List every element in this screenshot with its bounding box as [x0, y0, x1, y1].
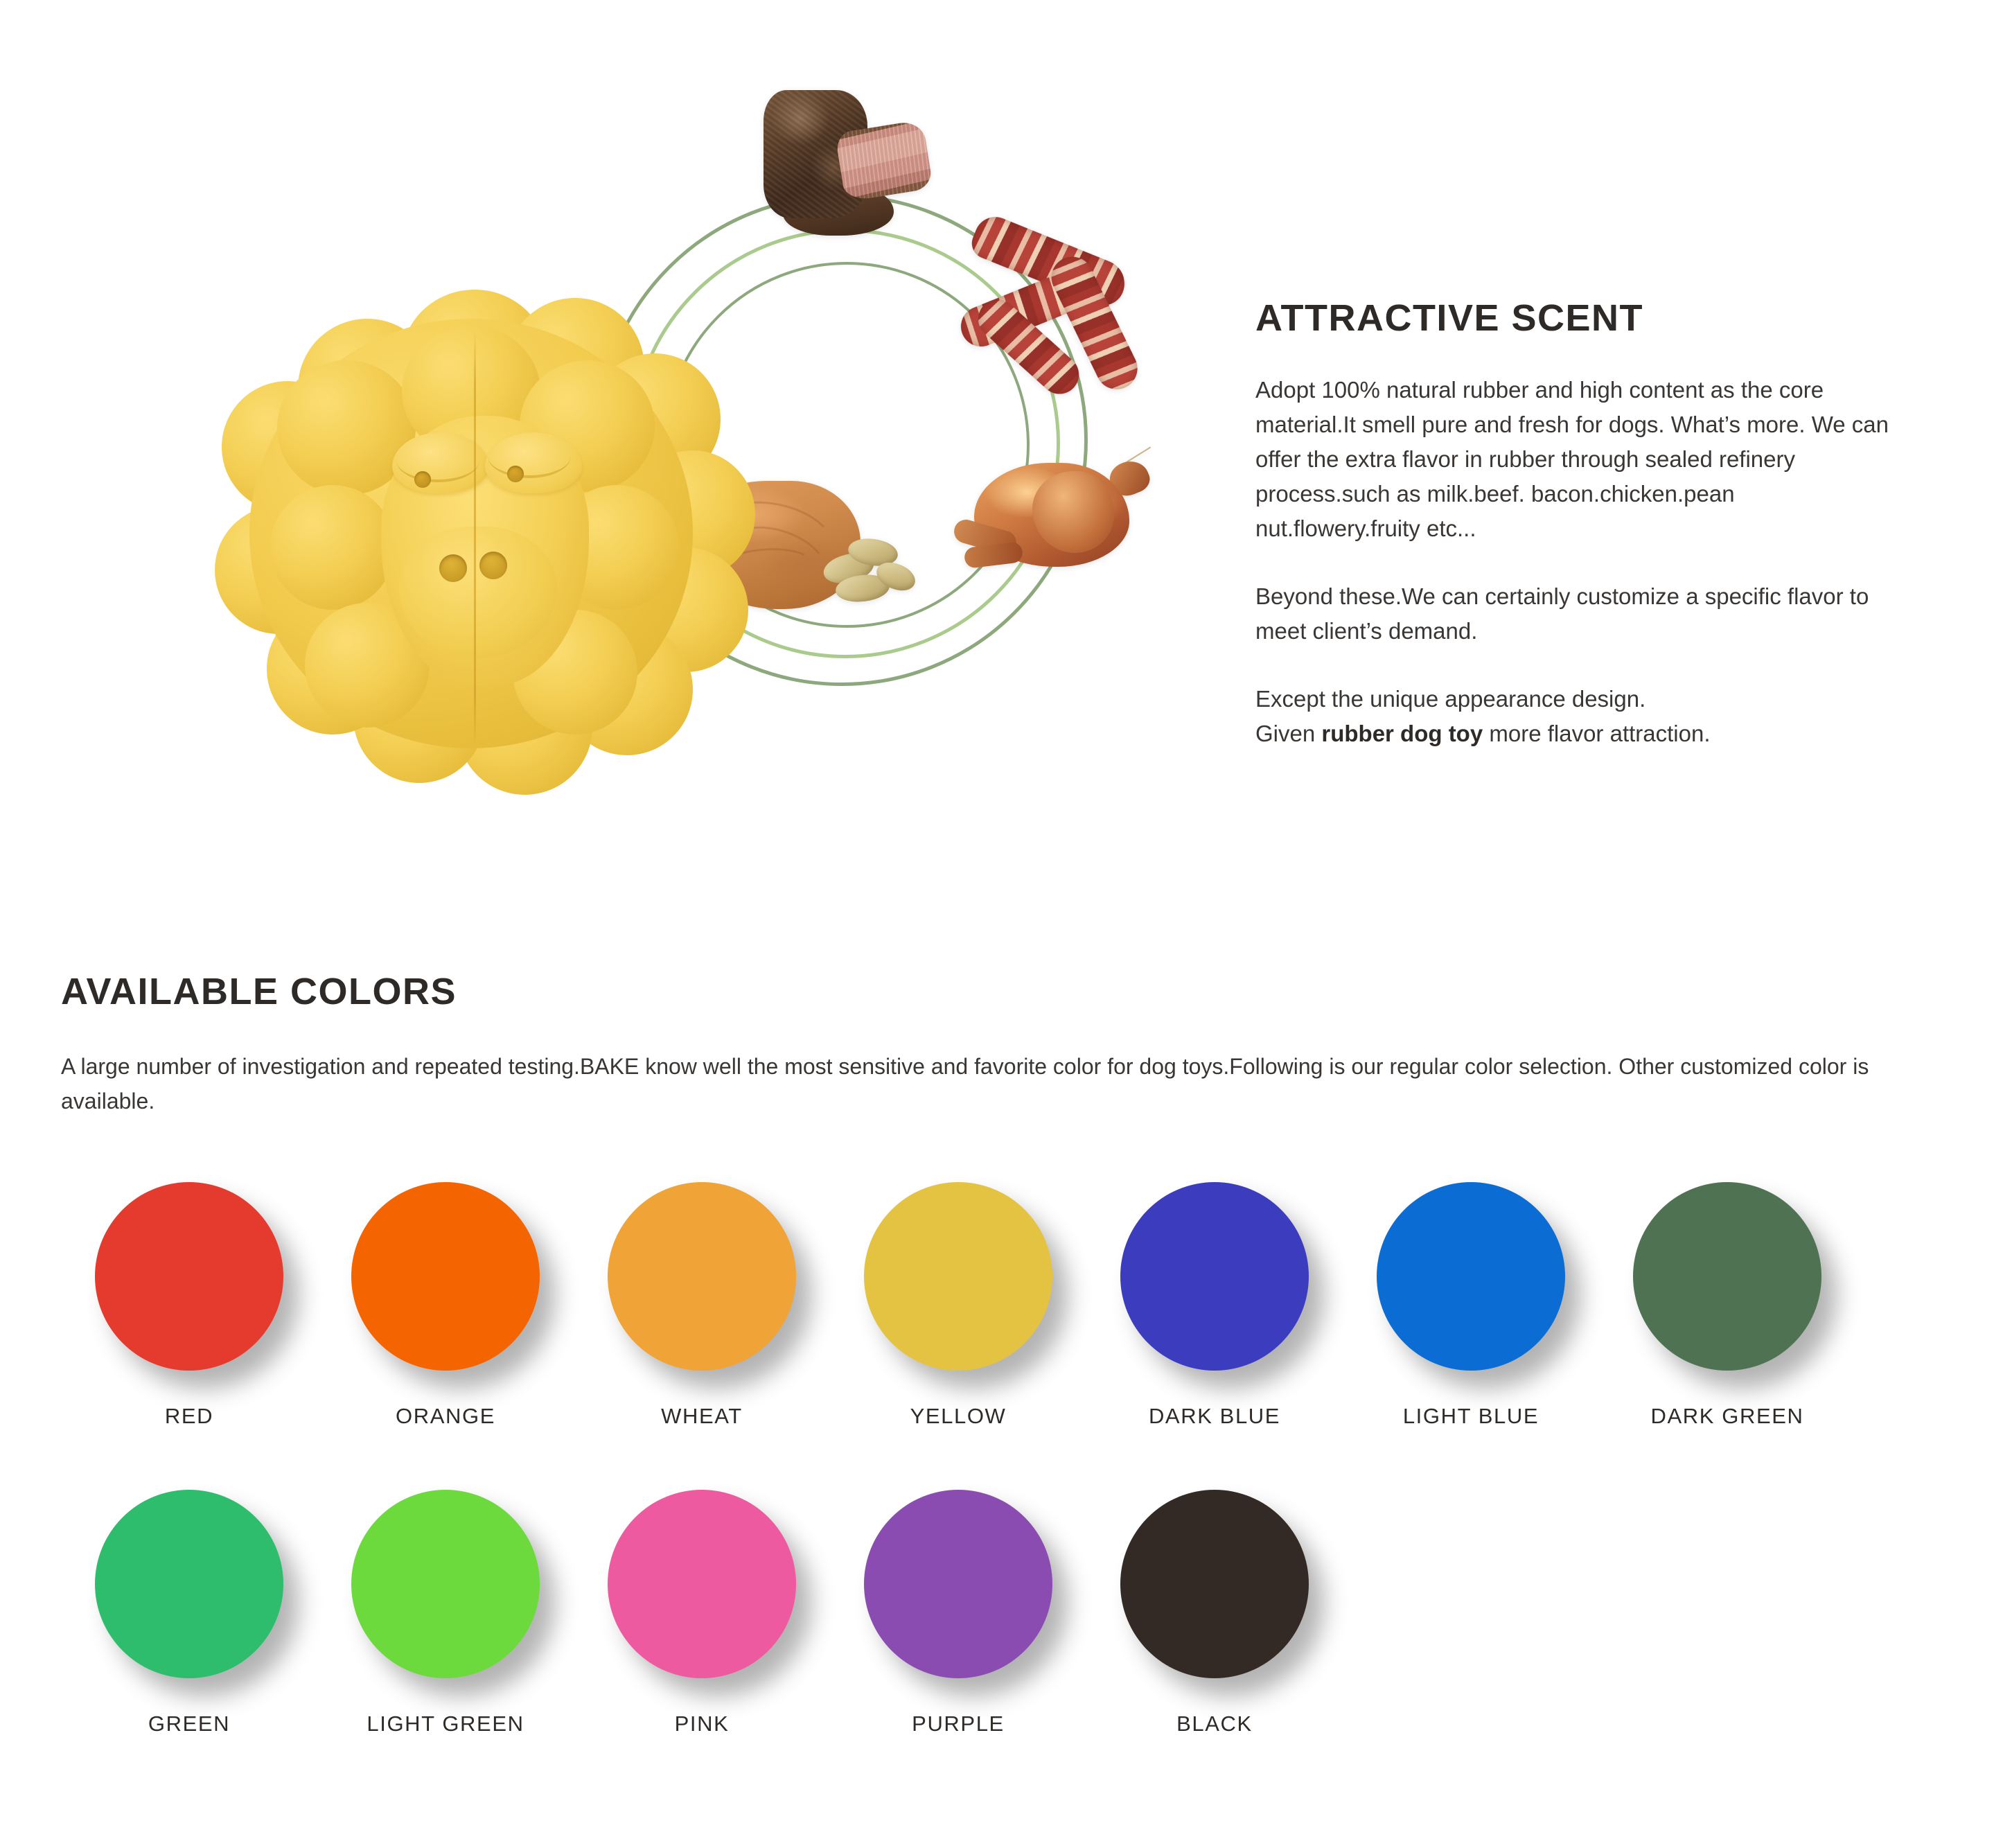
swatch-label: LIGHT BLUE	[1403, 1404, 1539, 1429]
color-swatch-yellow[interactable]: YELLOW	[830, 1182, 1086, 1429]
swatch-label: WHEAT	[661, 1404, 743, 1429]
swatch-dot[interactable]	[864, 1490, 1052, 1678]
swatch-label: ORANGE	[396, 1404, 495, 1429]
swatch-label: GREEN	[148, 1711, 230, 1736]
swatch-label: RED	[165, 1404, 213, 1429]
available-colors-section: AVAILABLE COLORS A large number of inves…	[61, 970, 1966, 1736]
available-colors-description: A large number of investigation and repe…	[61, 1049, 1945, 1118]
sheep-eye-right	[507, 466, 524, 482]
swatch-label: LIGHT GREEN	[367, 1711, 524, 1736]
scent-copy-block: ATTRACTIVE SCENT Adopt 100% natural rubb…	[1255, 297, 1900, 751]
swatch-label: PINK	[675, 1711, 730, 1736]
swatch-dot[interactable]	[1120, 1182, 1309, 1371]
swatch-dot[interactable]	[608, 1490, 796, 1678]
swatch-dot[interactable]	[1377, 1182, 1565, 1371]
swatch-label: BLACK	[1176, 1711, 1253, 1736]
swatch-label: PURPLE	[912, 1711, 1005, 1736]
sheep-mold-seam	[474, 331, 476, 747]
swatch-dot[interactable]	[351, 1182, 540, 1371]
swatch-dot[interactable]	[864, 1182, 1052, 1371]
swatch-dot[interactable]	[95, 1182, 283, 1371]
sheep-eye-left	[414, 471, 431, 488]
scent-paragraph-2: Beyond these.We can certainly customize …	[1255, 579, 1900, 649]
bacon-flavor-icon	[949, 216, 1147, 407]
color-swatch-light-green[interactable]: LIGHT GREEN	[317, 1490, 574, 1736]
swatch-dot[interactable]	[1120, 1490, 1309, 1678]
scent-para3-emphasis: rubber dog toy	[1321, 721, 1483, 746]
swatch-dot[interactable]	[351, 1490, 540, 1678]
color-swatch-red[interactable]: RED	[61, 1182, 317, 1429]
swatch-dot[interactable]	[95, 1490, 283, 1678]
color-swatch-pink[interactable]: PINK	[574, 1490, 830, 1736]
color-swatch-purple[interactable]: PURPLE	[830, 1490, 1086, 1736]
scent-paragraph-1: Adopt 100% natural rubber and high conte…	[1255, 373, 1900, 546]
swatch-dot[interactable]	[608, 1182, 796, 1371]
scent-para3-line1: Except the unique appearance design.	[1255, 686, 1645, 712]
scent-para3-prefix: Given	[1255, 721, 1321, 746]
color-swatch-dark-blue[interactable]: DARK BLUE	[1086, 1182, 1343, 1429]
available-colors-heading: AVAILABLE COLORS	[61, 970, 1966, 1013]
sheep-nostril-right	[479, 552, 507, 579]
swatch-label: YELLOW	[910, 1404, 1007, 1429]
scent-paragraph-3: Except the unique appearance design. Giv…	[1255, 682, 1900, 751]
sheep-nostril-left	[439, 554, 467, 582]
scent-heading: ATTRACTIVE SCENT	[1255, 297, 1900, 340]
beef-flavor-icon	[757, 83, 937, 243]
color-swatch-grid: REDORANGEWHEATYELLOWDARK BLUELIGHT BLUED…	[61, 1182, 1966, 1736]
color-swatch-black[interactable]: BLACK	[1086, 1490, 1343, 1736]
attractive-scent-section: ATTRACTIVE SCENT Adopt 100% natural rubb…	[0, 0, 2012, 901]
color-swatch-wheat[interactable]: WHEAT	[574, 1182, 830, 1429]
swatch-dot[interactable]	[1633, 1182, 1821, 1371]
swatch-label: DARK GREEN	[1651, 1404, 1804, 1429]
color-swatch-light-blue[interactable]: LIGHT BLUE	[1343, 1182, 1599, 1429]
color-swatch-orange[interactable]: ORANGE	[317, 1182, 574, 1429]
chicken-flavor-icon	[949, 450, 1157, 599]
yellow-sheep-toy-image	[194, 277, 748, 804]
color-swatch-green[interactable]: GREEN	[61, 1490, 317, 1736]
color-swatch-dark-green[interactable]: DARK GREEN	[1599, 1182, 1855, 1429]
scent-para3-suffix: more flavor attraction.	[1483, 721, 1710, 746]
swatch-label: DARK BLUE	[1149, 1404, 1280, 1429]
